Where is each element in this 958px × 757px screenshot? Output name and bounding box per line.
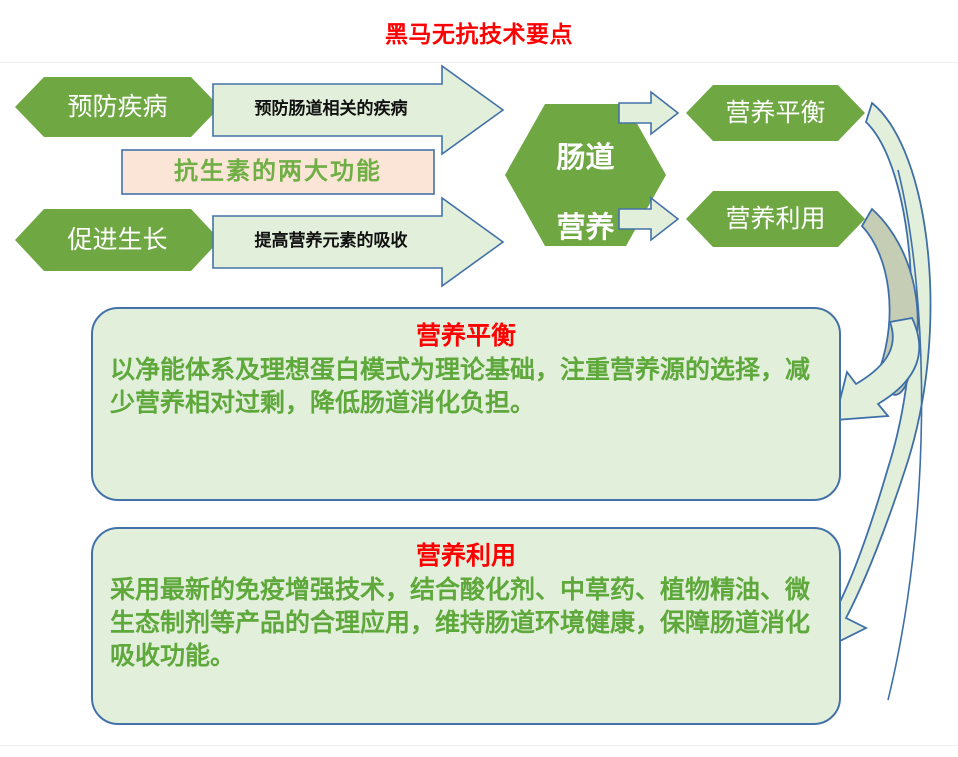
hub-line-2: 营养 — [556, 210, 614, 244]
hexagon-gut-nutrition-label-wrap: 肠道 营养 — [505, 104, 666, 246]
hexagon-prevent-disease-label: 预防疾病 — [15, 77, 220, 137]
panel-nutrition-balance-text: 营养平衡 以净能体系及理想蛋白模式为理论基础，注重营养源的选择，减少营养相对过剩… — [110, 322, 822, 419]
panel-nutrition-balance-body: 以净能体系及理想蛋白模式为理论基础，注重营养源的选择，减少营养相对过剩，降低肠道… — [110, 353, 822, 419]
hexagon-nutrition-balance-label: 营养平衡 — [686, 85, 865, 141]
hexagon-nutrition-utilization-label: 营养利用 — [686, 191, 865, 247]
arrow-prevent-gut-disease-label: 预防肠道相关的疾病 — [222, 86, 440, 134]
panel-nutrition-utilization-text: 营养利用 采用最新的免疫增强技术，结合酸化剂、中草药、植物精油、微生态制剂等产品… — [110, 542, 822, 672]
hexagon-gut-nutrition-label: 肠道 营养 — [556, 104, 614, 246]
panel-nutrition-utilization-body: 采用最新的免疫增强技术，结合酸化剂、中草药、植物精油、微生态制剂等产品的合理应用… — [110, 573, 822, 672]
footer-divider — [0, 745, 958, 746]
panel-nutrition-utilization-heading: 营养利用 — [110, 542, 822, 571]
slide-canvas: 黑马无抗技术要点 .hexfill { fill: #6FA843; } .ar… — [0, 0, 958, 757]
hub-line-1: 肠道 — [556, 140, 614, 174]
note-antibiotic-functions-label: 抗生素的两大功能 — [122, 150, 434, 194]
panel-nutrition-balance-heading: 营养平衡 — [110, 322, 822, 351]
arrow-improve-absorption-label: 提高营养元素的吸收 — [222, 218, 440, 266]
hexagon-promote-growth-label: 促进生长 — [15, 209, 220, 271]
